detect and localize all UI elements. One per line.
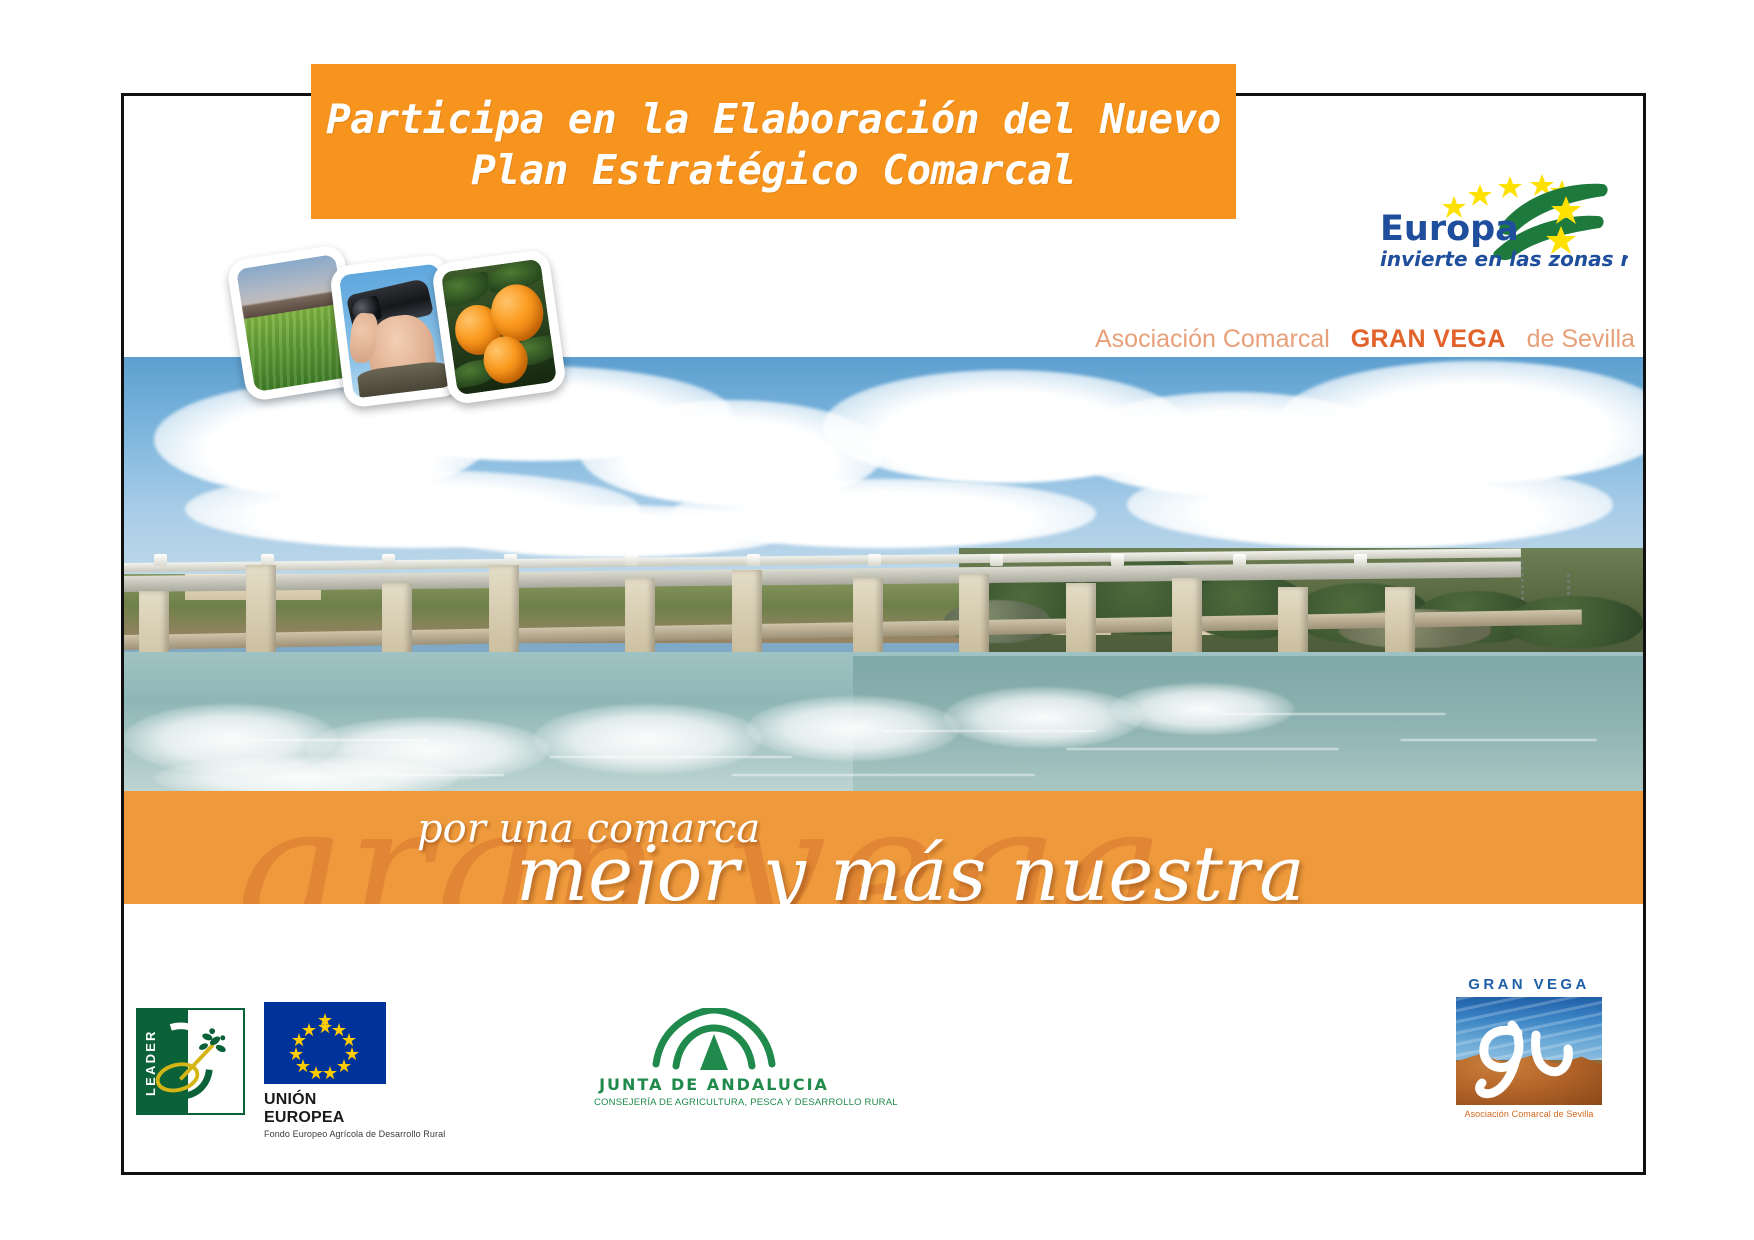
gran-vega-logo: GRAN VEGA Asociación Comarcal de Sevilla bbox=[1456, 976, 1602, 1119]
europa-tagline: invierte en las zonas rurales bbox=[1380, 247, 1628, 271]
leader-logo: LEADER bbox=[136, 1008, 245, 1115]
union-europea-logo: UNIÓN EUROPEA Fondo Europeo Agrícola de … bbox=[264, 1002, 386, 1139]
tagline-band: gran vega por una comarca mejor y más nu… bbox=[124, 791, 1643, 904]
union-europea-title: UNIÓN EUROPEA bbox=[264, 1091, 386, 1127]
junta-andalucia-logo: JUNTA DE ANDALUCIA CONSEJERÍA DE AGRICUL… bbox=[594, 1008, 834, 1108]
partner-logo-strip: LEADER bbox=[124, 930, 1643, 1170]
junta-title: JUNTA DE ANDALUCIA bbox=[594, 1075, 834, 1094]
union-europea-subtitle: Fondo Europeo Agrícola de Desarrollo Rur… bbox=[264, 1129, 386, 1139]
europa-invierte-logo: Europa invierte en las zonas rurales bbox=[1376, 144, 1628, 272]
tagline-line-2: mejor y más nuestra bbox=[516, 829, 1305, 904]
gran-vega-subtitle: Asociación Comarcal de Sevilla bbox=[1456, 1109, 1602, 1119]
thumbnail-oranges-photo bbox=[431, 248, 568, 405]
association-header: Asociación Comarcal GRAN VEGA de Sevilla bbox=[1095, 325, 1625, 354]
eu-flag bbox=[264, 1002, 386, 1084]
title-banner: Participa en la Elaboración del Nuevo Pl… bbox=[311, 64, 1236, 219]
title-line-1: Participa en la Elaboración del Nuevo bbox=[326, 94, 1221, 144]
gran-vega-title: GRAN VEGA bbox=[1456, 976, 1602, 993]
title-line-2: Plan Estratégico Comarcal bbox=[471, 145, 1076, 195]
association-brand: GRAN VEGA bbox=[1351, 325, 1506, 353]
junta-subtitle: CONSEJERÍA DE AGRICULTURA, PESCA Y DESAR… bbox=[594, 1097, 834, 1108]
association-prefix: Asociación Comarcal bbox=[1095, 325, 1330, 353]
association-suffix: de Sevilla bbox=[1527, 325, 1635, 353]
main-dam-photo bbox=[124, 357, 1643, 791]
europa-wordmark: Europa bbox=[1380, 209, 1519, 249]
gran-vega-emblem bbox=[1456, 997, 1602, 1105]
